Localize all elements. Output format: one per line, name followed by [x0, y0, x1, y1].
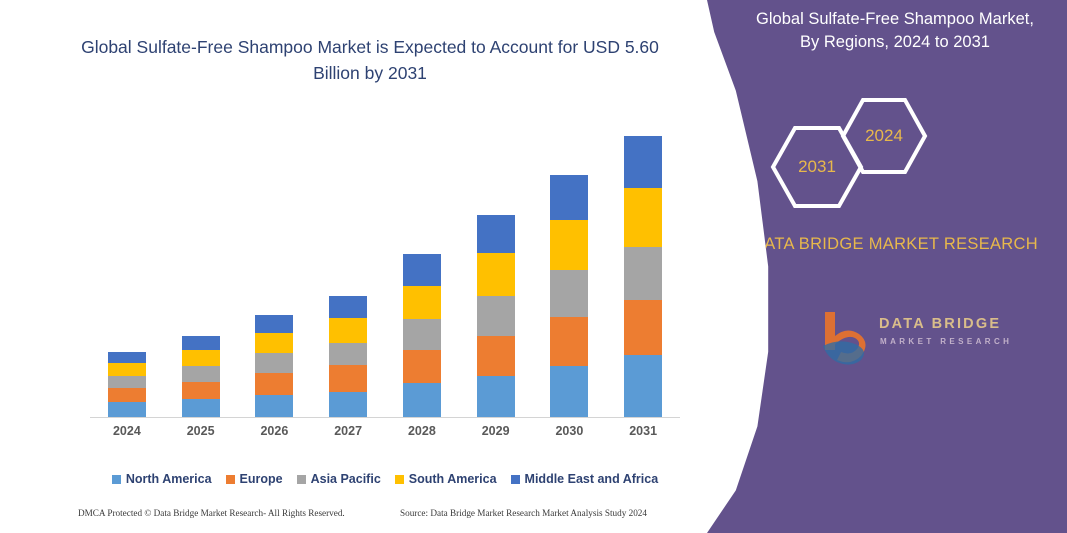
legend-swatch-icon: [112, 475, 121, 484]
bar-segment: [477, 296, 515, 336]
bar-segment: [182, 350, 220, 366]
legend-swatch-icon: [395, 475, 404, 484]
legend-swatch-icon: [511, 475, 520, 484]
x-axis-label: 2028: [387, 424, 457, 438]
legend-item[interactable]: Middle East and Africa: [511, 472, 659, 486]
hexagon-badge-end-year: 2024: [839, 96, 929, 176]
bar-segment: [403, 286, 441, 319]
bar-segment: [182, 366, 220, 382]
footer-source: Source: Data Bridge Market Research Mark…: [400, 508, 647, 518]
bar-segment: [403, 319, 441, 350]
x-axis-label: 2026: [239, 424, 309, 438]
bar-segment: [550, 270, 588, 317]
footer-copyright: DMCA Protected © Data Bridge Market Rese…: [78, 508, 345, 518]
legend-swatch-icon: [297, 475, 306, 484]
legend-swatch-icon: [226, 475, 235, 484]
stacked-bar[interactable]: [403, 254, 441, 417]
bar-column: [92, 352, 162, 417]
brand-name: DATA BRIDGE MARKET RESEARCH: [747, 232, 1043, 257]
bar-segment: [329, 318, 367, 343]
x-axis-label: 2025: [166, 424, 236, 438]
legend-label: Middle East and Africa: [525, 472, 659, 486]
bar-segment: [255, 373, 293, 395]
bar-segment: [182, 336, 220, 350]
chart-baseline-axis: [90, 417, 680, 418]
bar-segment: [624, 300, 662, 355]
dbmr-mark-icon: [817, 310, 877, 366]
bar-segment: [550, 175, 588, 220]
legend-label: Europe: [240, 472, 283, 486]
bar-segment: [477, 376, 515, 417]
legend-label: North America: [126, 472, 212, 486]
hexagon-start-year-label: 2031: [798, 157, 836, 177]
bar-column: [387, 254, 457, 417]
bar-segment: [255, 395, 293, 417]
bar-column: [608, 136, 678, 417]
bar-segment: [403, 383, 441, 417]
x-axis-label: 2029: [461, 424, 531, 438]
hexagon-badges: 2031 2024: [707, 98, 1067, 208]
legend-item[interactable]: Europe: [226, 472, 283, 486]
bar-column: [534, 175, 604, 417]
bar-segment: [255, 333, 293, 353]
x-axis-label: 2024: [92, 424, 162, 438]
legend-item[interactable]: North America: [112, 472, 212, 486]
stacked-bar[interactable]: [182, 336, 220, 417]
dbmr-logo: DATA BRIDGE MARKET RESEARCH: [817, 310, 1027, 370]
dbmr-logo-sub-text: MARKET RESEARCH: [880, 337, 1012, 346]
bar-column: [239, 315, 309, 417]
chart-legend: North AmericaEuropeAsia PacificSouth Ame…: [90, 472, 680, 486]
stacked-bar-chart: [90, 110, 680, 417]
bar-segment: [624, 355, 662, 417]
bar-segment: [329, 296, 367, 318]
stacked-bar[interactable]: [329, 296, 367, 417]
panel-title: Global Sulfate-Free Shampoo Market, By R…: [747, 8, 1043, 54]
infographic-slide: Global Sulfate-Free Shampoo Market is Ex…: [0, 0, 1067, 533]
x-axis-labels: 20242025202620272028202920302031: [90, 424, 680, 438]
bar-segment: [108, 402, 146, 417]
bar-segment: [255, 353, 293, 373]
stacked-bar[interactable]: [255, 315, 293, 417]
legend-item[interactable]: South America: [395, 472, 497, 486]
bar-segment: [182, 399, 220, 417]
bar-segment: [329, 343, 367, 365]
stacked-bar[interactable]: [624, 136, 662, 417]
bar-segment: [477, 215, 515, 253]
hexagon-end-year-label: 2024: [865, 126, 903, 146]
bar-column: [461, 215, 531, 417]
stacked-bar[interactable]: [550, 175, 588, 417]
bar-segment: [255, 315, 293, 333]
x-axis-label: 2031: [608, 424, 678, 438]
bar-segment: [550, 317, 588, 366]
legend-item[interactable]: Asia Pacific: [297, 472, 381, 486]
legend-label: Asia Pacific: [311, 472, 381, 486]
bar-segment: [477, 336, 515, 376]
bar-segment: [108, 376, 146, 388]
page-title: Global Sulfate-Free Shampoo Market is Ex…: [60, 34, 680, 87]
stacked-bar[interactable]: [108, 352, 146, 417]
right-brand-panel: Global Sulfate-Free Shampoo Market, By R…: [707, 0, 1067, 533]
bar-segment: [108, 388, 146, 402]
bar-segment: [624, 188, 662, 247]
bar-segment: [403, 254, 441, 285]
x-axis-label: 2027: [313, 424, 383, 438]
dbmr-logo-main-text: DATA BRIDGE: [879, 316, 1001, 332]
legend-label: South America: [409, 472, 497, 486]
bar-segment: [329, 365, 367, 392]
bar-segment: [550, 366, 588, 417]
bar-segment: [624, 247, 662, 299]
stacked-bar[interactable]: [477, 215, 515, 417]
bar-segment: [108, 363, 146, 376]
bar-column: [166, 336, 236, 417]
bar-segment: [477, 253, 515, 295]
x-axis-label: 2030: [534, 424, 604, 438]
bar-segment: [108, 352, 146, 363]
bar-column: [313, 296, 383, 417]
bar-segment: [403, 350, 441, 383]
bar-segment: [182, 382, 220, 399]
bar-segment: [550, 220, 588, 269]
bar-segment: [624, 136, 662, 188]
bar-segment: [329, 392, 367, 417]
